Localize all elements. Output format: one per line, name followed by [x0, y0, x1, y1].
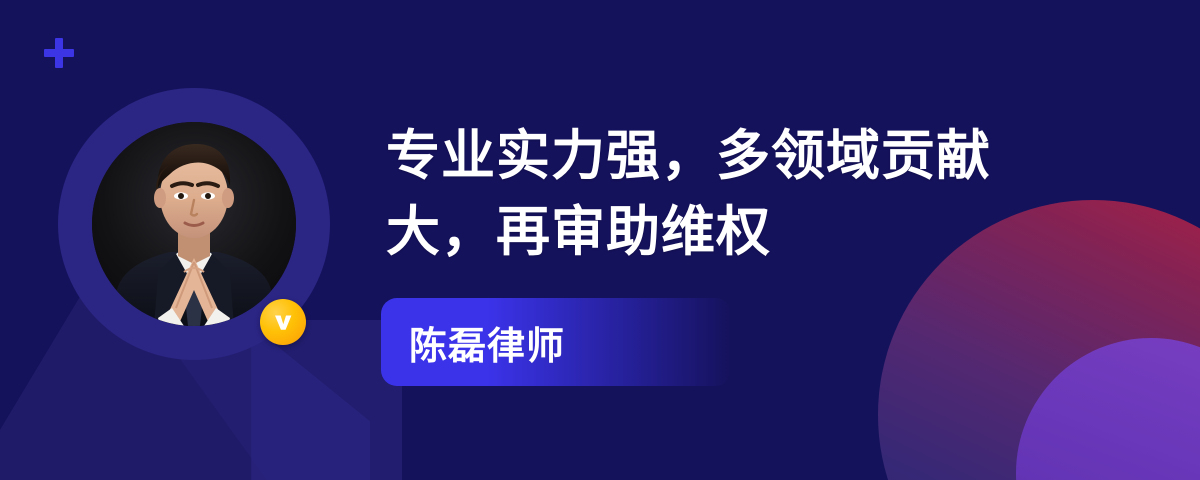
name-badge: 陈磊律师 [381, 298, 731, 386]
avatar [58, 88, 330, 360]
lawyer-promo-banner: 专业实力强，多领域贡献大，再审助维权 陈磊律师 [0, 0, 1200, 480]
text-content: 专业实力强，多领域贡献大，再审助维权 陈磊律师 [386, 118, 1076, 270]
plus-icon [44, 38, 74, 68]
avatar-photo [92, 122, 296, 326]
page-title: 专业实力强，多领域贡献大，再审助维权 [386, 118, 1066, 270]
verified-badge [260, 299, 306, 345]
lawyer-name: 陈磊律师 [381, 315, 565, 370]
